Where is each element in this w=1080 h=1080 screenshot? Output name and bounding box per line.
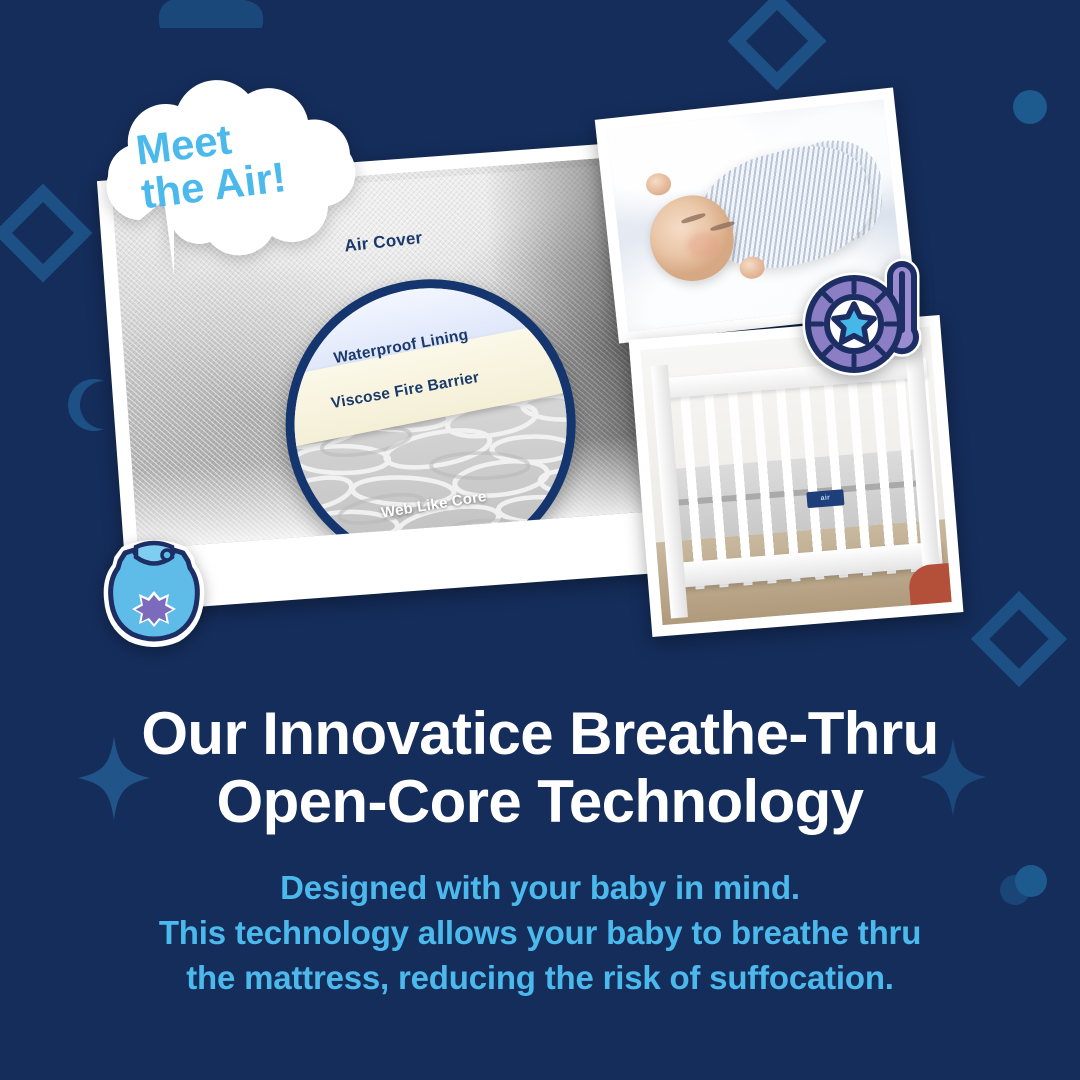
- page-subheadline: Designed with your baby in mind. This te…: [0, 866, 1080, 1001]
- poster-canvas: Air Cover: [0, 0, 1080, 1080]
- cloud-shape-top-right-icon: [150, 0, 270, 46]
- baby-bib-sticker: [95, 533, 213, 651]
- meet-the-air-cloud-badge: Meet the Air!: [82, 80, 380, 280]
- circle-top-right-icon: [1013, 90, 1047, 124]
- crib-mattress-brand-tag-label: air: [820, 495, 830, 503]
- crib-mattress-brand-tag: air: [806, 489, 845, 509]
- diamond-outline-bottom-right-icon: [971, 591, 1067, 687]
- subheadline-line-1: Designed with your baby in mind.: [0, 866, 1080, 911]
- mattress-layers-magnifier: Waterproof Lining Viscose Fire Barrier W…: [275, 269, 585, 549]
- diamond-outline-top-left-icon: [0, 184, 92, 283]
- subheadline-line-3: the mattress, reducing the risk of suffo…: [0, 956, 1080, 1001]
- page-headline: Our Innovatice Breathe-Thru Open-Core Te…: [0, 700, 1080, 836]
- headline-line-2: Open-Core Technology: [0, 768, 1080, 836]
- headline-line-1: Our Innovatice Breathe-Thru: [0, 700, 1080, 768]
- baby-rattle-thermometer-sticker: [798, 252, 940, 378]
- diamond-outline-top-right-icon: [728, 0, 827, 90]
- subheadline-line-2: This technology allows your baby to brea…: [0, 911, 1080, 956]
